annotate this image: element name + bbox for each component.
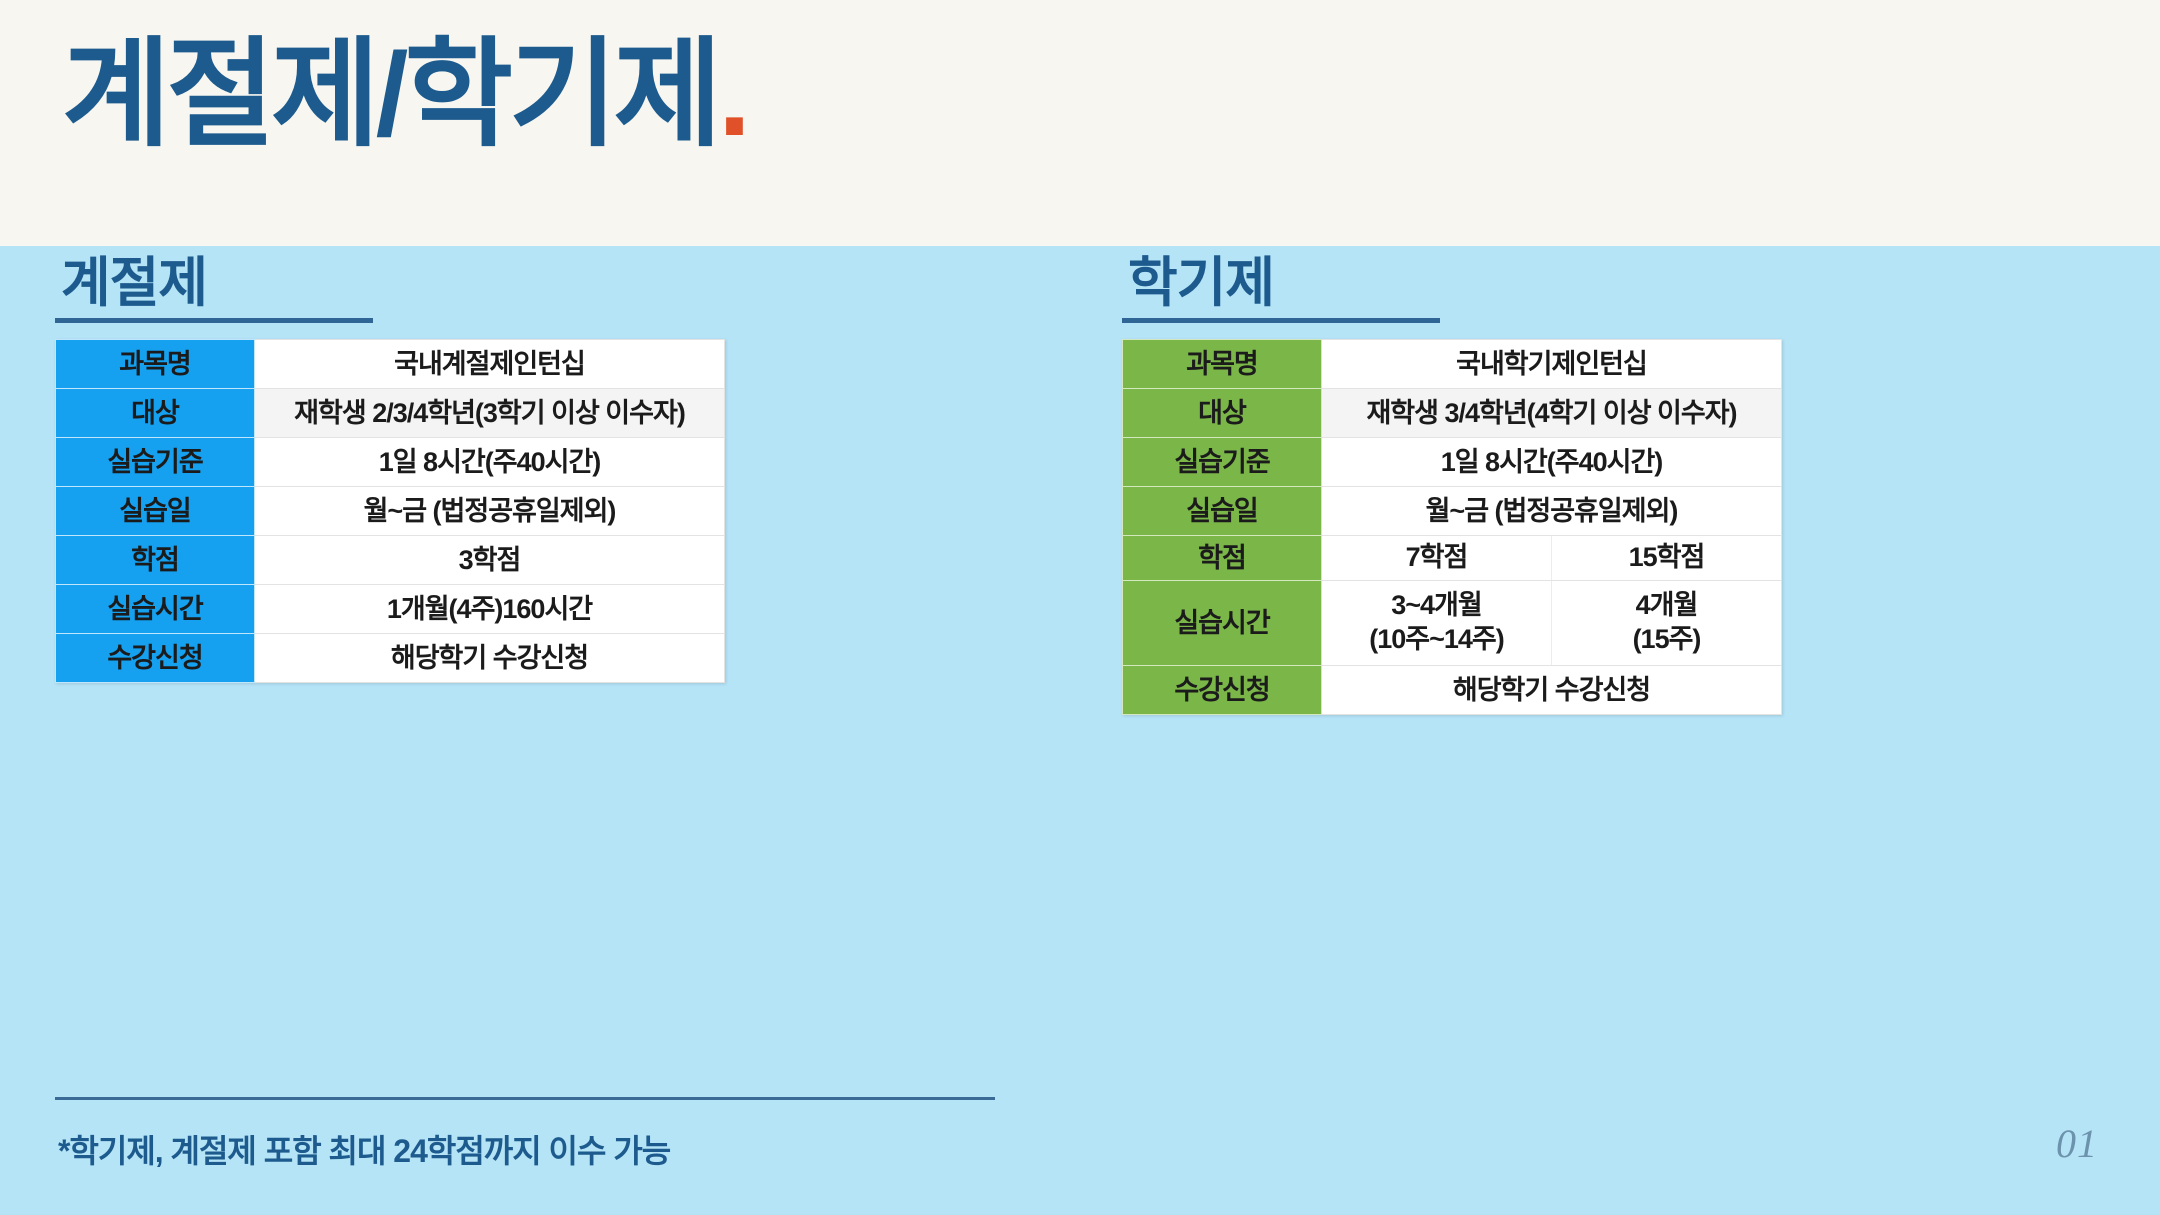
footnote-text: *학기제, 계절제 포함 최대 24학점까지 이수 가능 [58, 1126, 670, 1172]
row-value-subject: 국내학기제인턴십 [1322, 340, 1782, 389]
row-value-credits-option-a: 7학점 [1322, 536, 1551, 580]
row-value-credits: 3학점 [255, 536, 725, 585]
row-value-hours-option-a: 3~4개월 (10주~14주) [1322, 581, 1551, 665]
table-row: 수강신청 해당학기 수강신청 [1123, 666, 1782, 715]
row-label-credits: 학점 [1123, 536, 1322, 581]
slide-header-band: 계절제/학기제. [0, 0, 2160, 246]
row-value-target: 재학생 2/3/4학년(3학기 이상 이수자) [255, 389, 725, 438]
row-label-target: 대상 [56, 389, 255, 438]
table-row: 실습기준 1일 8시간(주40시간) [1123, 438, 1782, 487]
row-value-target: 재학생 3/4학년(4학기 이상 이수자) [1322, 389, 1782, 438]
page-title: 계절제/학기제. [62, 26, 747, 165]
row-label-subject: 과목명 [56, 340, 255, 389]
table-row: 실습일 월~금 (법정공휴일제외) [56, 487, 725, 536]
row-value-hours-option-b: 4개월 (15주) [1551, 581, 1781, 665]
section-heading-semester: 학기제 [1128, 256, 1274, 310]
section-heading-seasonal: 계절제 [61, 256, 207, 310]
table-row: 실습일 월~금 (법정공휴일제외) [1123, 487, 1782, 536]
page-number: 01 [2056, 1120, 2098, 1167]
section-rule-seasonal [55, 318, 373, 323]
row-value-criteria: 1일 8시간(주40시간) [1322, 438, 1782, 487]
table-row: 과목명 국내학기제인턴십 [1123, 340, 1782, 389]
table-row: 대상 재학생 2/3/4학년(3학기 이상 이수자) [56, 389, 725, 438]
table-row: 수강신청 해당학기 수강신청 [56, 634, 725, 683]
table-seasonal: 과목명 국내계절제인턴십 대상 재학생 2/3/4학년(3학기 이상 이수자) … [55, 339, 725, 683]
row-label-hours: 실습시간 [56, 585, 255, 634]
row-value-hours-option-a-line1: 3~4개월 [1369, 589, 1504, 623]
row-label-credits: 학점 [56, 536, 255, 585]
row-value-registration: 해당학기 수강신청 [255, 634, 725, 683]
row-value-hours: 1개월(4주)160시간 [255, 585, 725, 634]
row-value-hours: 3~4개월 (10주~14주) 4개월 (15주) [1322, 581, 1782, 666]
row-value-days: 월~금 (법정공휴일제외) [255, 487, 725, 536]
table-semester: 과목명 국내학기제인턴십 대상 재학생 3/4학년(4학기 이상 이수자) 실습… [1122, 339, 1782, 715]
table-row: 학점 7학점 15학점 [1123, 536, 1782, 581]
row-value-days: 월~금 (법정공휴일제외) [1322, 487, 1782, 536]
row-label-days: 실습일 [56, 487, 255, 536]
row-value-registration: 해당학기 수강신청 [1322, 666, 1782, 715]
row-value-credits-option-b: 15학점 [1551, 536, 1781, 580]
row-value-subject: 국내계절제인턴십 [255, 340, 725, 389]
table-row: 학점 3학점 [56, 536, 725, 585]
row-label-hours: 실습시간 [1123, 581, 1322, 666]
row-value-hours-option-b-line2: (15주) [1633, 623, 1701, 657]
footnote-divider [55, 1097, 995, 1100]
row-label-subject: 과목명 [1123, 340, 1322, 389]
page-title-text: 계절제/학기제 [62, 29, 718, 161]
row-value-credits: 7학점 15학점 [1322, 536, 1782, 581]
row-value-criteria: 1일 8시간(주40시간) [255, 438, 725, 487]
title-accent-dot: . [718, 29, 747, 161]
row-label-target: 대상 [1123, 389, 1322, 438]
table-row: 실습시간 3~4개월 (10주~14주) 4개월 [1123, 581, 1782, 666]
table-row: 실습기준 1일 8시간(주40시간) [56, 438, 725, 487]
row-label-criteria: 실습기준 [1123, 438, 1322, 487]
table-row: 대상 재학생 3/4학년(4학기 이상 이수자) [1123, 389, 1782, 438]
slide-body: 계절제 과목명 국내계절제인턴십 대상 재학생 2/3/4학년(3학기 이상 이… [0, 246, 2160, 1215]
row-label-days: 실습일 [1123, 487, 1322, 536]
table-row: 실습시간 1개월(4주)160시간 [56, 585, 725, 634]
row-label-criteria: 실습기준 [56, 438, 255, 487]
row-label-registration: 수강신청 [1123, 666, 1322, 715]
section-rule-semester [1122, 318, 1440, 323]
row-value-hours-option-a-line2: (10주~14주) [1369, 623, 1504, 657]
row-label-registration: 수강신청 [56, 634, 255, 683]
table-row: 과목명 국내계절제인턴십 [56, 340, 725, 389]
row-value-hours-option-b-line1: 4개월 [1633, 589, 1701, 623]
